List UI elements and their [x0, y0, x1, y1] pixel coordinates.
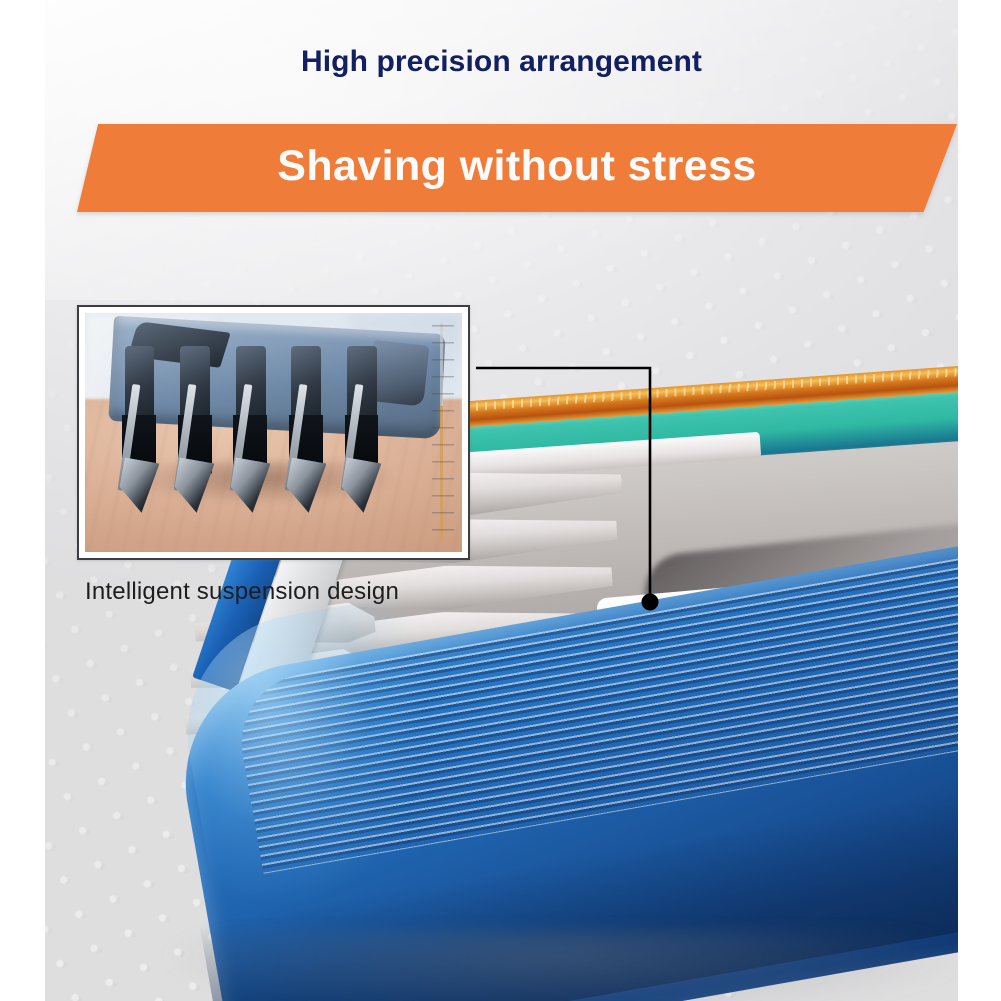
grey-backdrop: High precision arrangement Shaving witho… [45, 0, 958, 1001]
inset-photo-image [85, 313, 462, 552]
inset-blade [286, 346, 326, 518]
inset-blade [230, 346, 270, 518]
inset-ruler-ticks [432, 325, 454, 540]
inset-blade [119, 346, 159, 518]
inset-caption: Intelligent suspension design [85, 578, 399, 606]
inset-blade [341, 346, 381, 518]
inset-blade [175, 346, 215, 518]
product-image-canvas: High precision arrangement Shaving witho… [0, 0, 1001, 1001]
inset-photo-frame [77, 305, 470, 560]
page-title: High precision arrangement [45, 45, 958, 79]
banner-label: Shaving without stress [77, 124, 957, 212]
tagline-banner: Shaving without stress [77, 124, 957, 212]
product-floor-shadow [165, 930, 958, 1001]
inset-blade-row [119, 346, 428, 518]
